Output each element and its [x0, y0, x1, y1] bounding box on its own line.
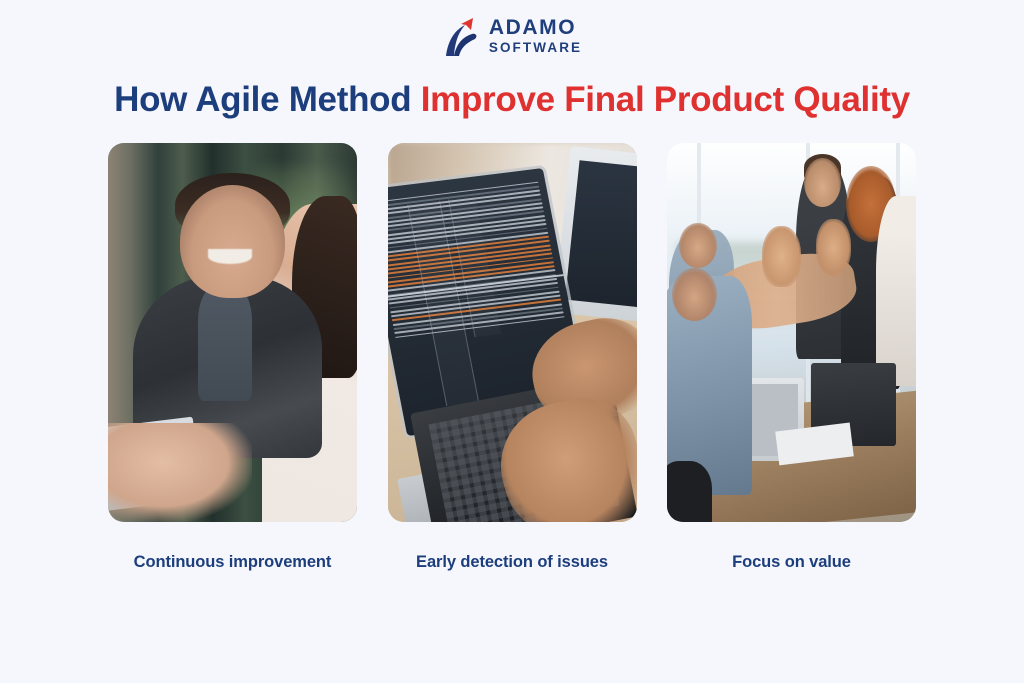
- brand-logo[interactable]: ADAMO SOFTWARE: [0, 14, 1024, 58]
- logo-subtitle: SOFTWARE: [489, 41, 582, 55]
- photo-coding-laptop: [388, 143, 637, 522]
- caption-focus-on-value: Focus on value: [667, 553, 916, 572]
- logo-name: ADAMO: [489, 17, 582, 38]
- page-title: How Agile Method Improve Final Product Q…: [0, 80, 1024, 120]
- image-card-row: [108, 143, 916, 522]
- photo-team-high-five: [667, 143, 916, 522]
- caption-row: Continuous improvement Early detection o…: [108, 553, 916, 572]
- title-part-navy: How Agile Method: [114, 80, 421, 119]
- title-part-red: Improve Final Product Quality: [421, 80, 910, 119]
- image-card-continuous-improvement[interactable]: [108, 143, 357, 522]
- image-card-early-detection[interactable]: [388, 143, 637, 522]
- logo-wordmark: ADAMO SOFTWARE: [489, 17, 582, 55]
- caption-continuous-improvement: Continuous improvement: [108, 553, 357, 572]
- adamo-swoosh-mark: [442, 14, 480, 58]
- photo-meeting: [108, 143, 357, 522]
- caption-early-detection: Early detection of issues: [388, 553, 637, 572]
- image-card-focus-on-value[interactable]: [667, 143, 916, 522]
